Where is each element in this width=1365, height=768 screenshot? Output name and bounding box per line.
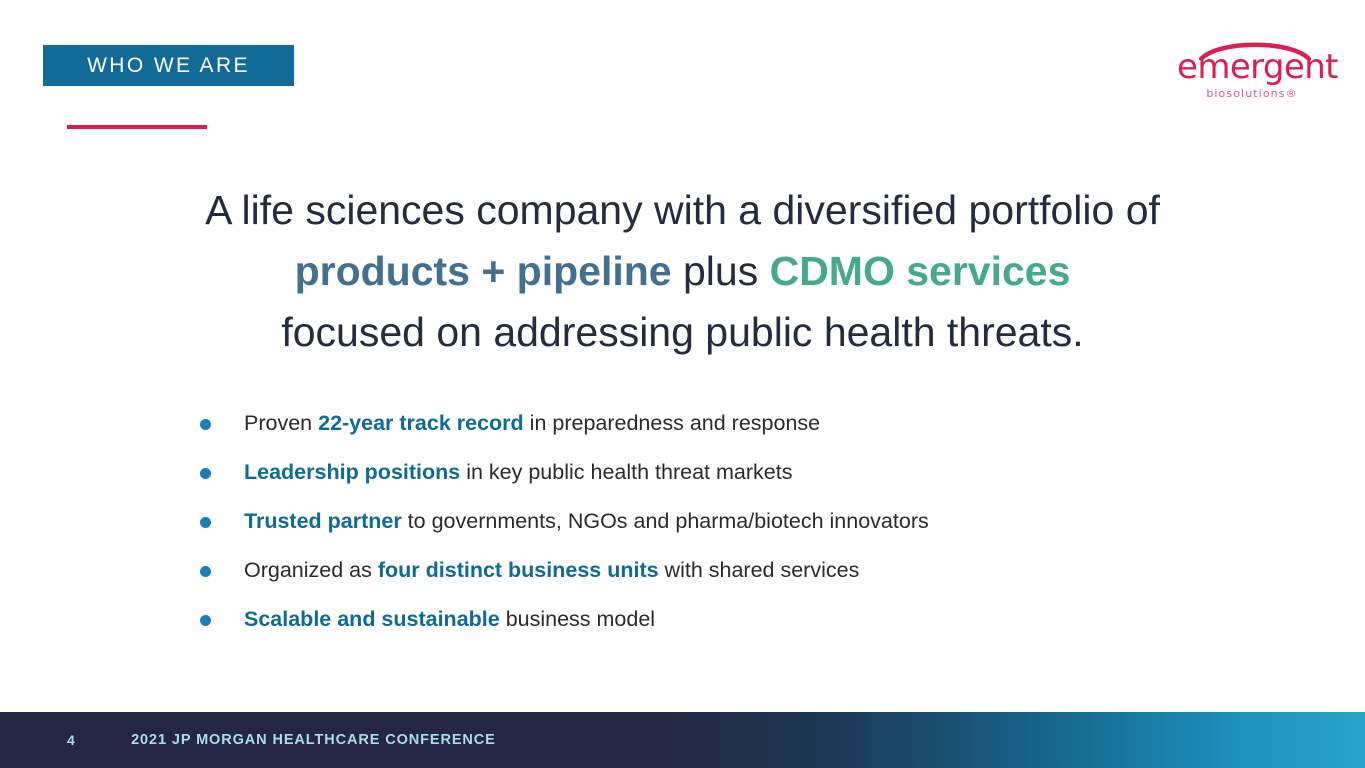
list-item-text: Proven 22-year track record in preparedn… (244, 408, 820, 438)
bullet-dot-icon (200, 566, 211, 577)
footer-page-number: 4 (67, 732, 75, 748)
list-item-emphasis: Trusted partner (244, 509, 402, 533)
list-item-prefix: Proven (244, 411, 318, 435)
footer-conference-title: 2021 JP MORGAN HEALTHCARE CONFERENCE (131, 732, 496, 748)
headline-plus-connector: plus (672, 248, 770, 294)
list-item: Proven 22-year track record in preparedn… (200, 408, 1250, 457)
headline-line-2: products + pipeline plus CDMO services (60, 241, 1305, 302)
list-item-emphasis: Leadership positions (244, 460, 460, 484)
list-item-suffix: in preparedness and response (524, 411, 820, 435)
list-item-suffix: business model (500, 607, 655, 631)
list-item-text: Scalable and sustainable business model (244, 604, 655, 634)
bullet-dot-icon (200, 517, 211, 528)
list-item-emphasis: Scalable and sustainable (244, 607, 500, 631)
key-points-list: Proven 22-year track record in preparedn… (200, 408, 1250, 653)
list-item: Scalable and sustainable business model (200, 604, 1250, 653)
slide-footer: 4 2021 JP MORGAN HEALTHCARE CONFERENCE (0, 712, 1365, 768)
list-item: Trusted partner to governments, NGOs and… (200, 506, 1250, 555)
headline-line-1: A life sciences company with a diversifi… (60, 180, 1305, 241)
list-item-suffix: with shared services (659, 558, 860, 582)
list-item-emphasis: four distinct business units (378, 558, 659, 582)
logo-tagline: biosolutions® (1177, 88, 1327, 99)
red-accent-rule (67, 125, 207, 129)
list-item-prefix: Organized as (244, 558, 378, 582)
headline-products-pipeline: products + pipeline (295, 248, 672, 294)
slide-headline: A life sciences company with a diversifi… (60, 180, 1305, 363)
headline-line-3: focused on addressing public health thre… (60, 302, 1305, 363)
section-eyebrow-label: WHO WE ARE (87, 55, 250, 76)
list-item-text: Organized as four distinct business unit… (244, 555, 859, 585)
section-eyebrow-tag: WHO WE ARE (43, 45, 294, 86)
headline-cdmo-services: CDMO services (770, 248, 1071, 294)
list-item-emphasis: 22-year track record (318, 411, 524, 435)
list-item-text: Trusted partner to governments, NGOs and… (244, 506, 929, 536)
bullet-dot-icon (200, 419, 211, 430)
bullet-dot-icon (200, 615, 211, 626)
logo-wordmark: emergent (1177, 50, 1327, 84)
emergent-biosolutions-logo: emergent biosolutions® (1177, 38, 1327, 106)
bullet-dot-icon (200, 468, 211, 479)
list-item: Leadership positions in key public healt… (200, 457, 1250, 506)
list-item: Organized as four distinct business unit… (200, 555, 1250, 604)
list-item-text: Leadership positions in key public healt… (244, 457, 792, 487)
slide-canvas: WHO WE ARE emergent biosolutions® A life… (0, 0, 1365, 768)
list-item-suffix: in key public health threat markets (460, 460, 792, 484)
list-item-suffix: to governments, NGOs and pharma/biotech … (402, 509, 929, 533)
